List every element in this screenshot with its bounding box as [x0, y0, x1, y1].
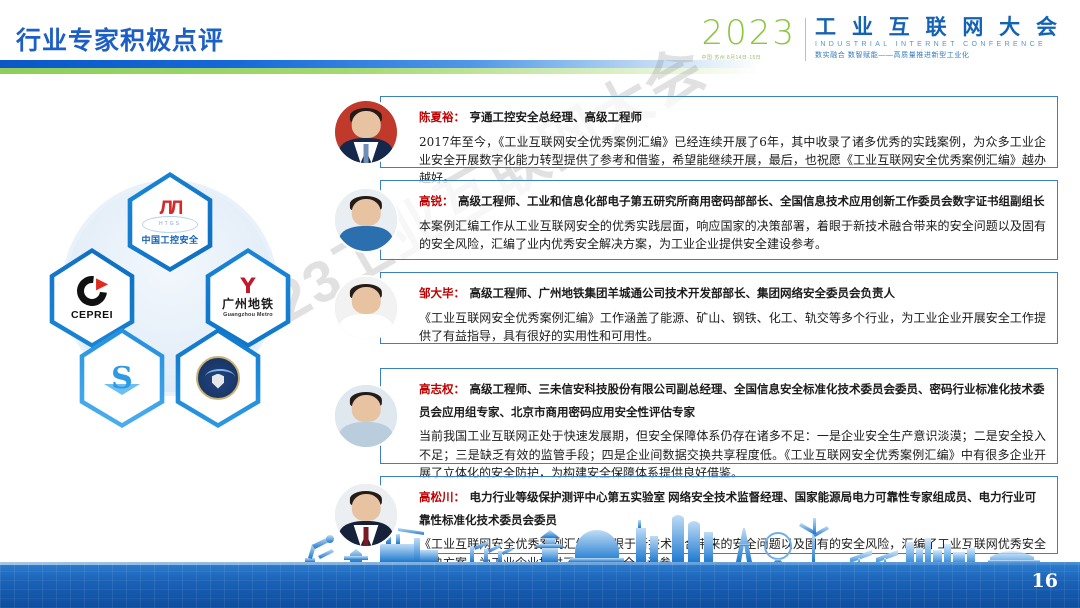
expert-comment-panel: 高锐： 高级工程师、工业和信息化部电子第五研究所商用密码部部长、全国信息技术应用… [380, 180, 1058, 260]
expert-title: 亨通工控安全总经理、高级工程师 [469, 112, 642, 124]
avatar-tie [364, 144, 369, 163]
slide-root: 行业专家积极点评 2023 中国·苏州 8月14日-15日 工 业 互 联 网 … [0, 0, 1080, 608]
avatar [333, 187, 399, 253]
expert-name: 陈夏裕： [419, 112, 465, 124]
ceprei-arrow-icon [96, 278, 108, 290]
avatar-body [339, 226, 392, 253]
htgs-label-cn: 中国工控安全 [141, 233, 198, 246]
conference-logo: 2023 中国·苏州 8月14日-15日 工 业 互 联 网 大 会 INDUS… [701, 16, 1062, 61]
expert-name: 邹大毕： [419, 288, 465, 300]
htgs-mark-icon: ЛЛ [160, 199, 181, 218]
ceprei-label-en: CEPREI [71, 309, 113, 321]
footer-grid-pattern [0, 562, 1080, 608]
avatar-body [339, 314, 392, 341]
htgs-ring-icon: HTGS [142, 216, 198, 233]
avatar-tie [364, 527, 369, 546]
expert-heading: 高志权： 高级工程师、三未信安科技股份有限公司副总经理、全国信息安全标准化技术委… [419, 378, 1046, 423]
header-rule-green [0, 68, 760, 74]
expert-comment-body: 《工业互联网安全优秀案例汇编》工作涵盖了能源、矿山、钢铁、化工、轨交等多个行业，… [419, 309, 1046, 345]
conference-name-block: 工 业 互 联 网 大 会 INDUSTRIAL INTERNET CONFER… [815, 16, 1062, 60]
avatar-head [352, 199, 381, 226]
metro-label-cn: 广州地铁 [222, 295, 274, 312]
s-mark-icon: S [102, 360, 142, 396]
badge-seal-icon [196, 356, 240, 400]
badge-shield-icon [212, 374, 224, 389]
expert-name: 高志权： [419, 384, 465, 396]
conference-name-en: INDUSTRIAL INTERNET CONFERENCE [815, 41, 1062, 48]
ceprei-mark-icon [71, 269, 113, 311]
metro-mark-icon: Y [240, 278, 255, 295]
metro-label-en: Guangzhou Metro [223, 312, 273, 318]
avatar [333, 482, 399, 548]
avatar-head [352, 111, 381, 138]
avatar [333, 383, 399, 449]
city-skyline-decoration [0, 514, 1080, 564]
logo-petal-badge-inner [177, 333, 259, 423]
expert-name: 高锐： [419, 196, 454, 208]
avatar-head [352, 494, 381, 521]
conference-name-cn: 工 业 互 联 网 大 会 [815, 16, 1062, 39]
avatar-head [352, 287, 381, 314]
expert-title: 高级工程师、三未信安科技股份有限公司副总经理、全国信息安全标准化技术委员会委员、… [419, 384, 1044, 419]
expert-name: 高松川： [419, 492, 465, 504]
footer-band [0, 562, 1080, 608]
conference-logo-divider [805, 18, 806, 61]
conference-tagline: 数实融合 数智赋能——高质量推进新型工业化 [815, 50, 1062, 60]
page-title: 行业专家积极点评 [16, 21, 224, 57]
page-number: 16 [1032, 570, 1058, 592]
header-divider-rule [0, 60, 760, 74]
expert-title: 高级工程师、工业和信息化部电子第五研究所商用密码部部长、全国信息技术应用创新工作… [458, 196, 1045, 208]
logo-petal-htgs-inner: ЛЛ HTGS 中国工控安全 [129, 177, 211, 267]
avatar [333, 275, 399, 341]
expert-heading: 陈夏裕： 亨通工控安全总经理、高级工程师 [419, 106, 1046, 129]
avatar [333, 99, 399, 165]
conference-year-block: 2023 中国·苏州 8月14日-15日 [701, 16, 796, 61]
expert-comment-panel: 陈夏裕： 亨通工控安全总经理、高级工程师 2017年至今，《工业互联网安全优秀案… [380, 96, 1058, 168]
expert-comment-body: 本案例汇编工作从工业互联网安全的优秀实践层面，响应国家的决策部署，着眼于新技术融… [419, 217, 1046, 253]
expert-comment-panel: 邹大毕： 高级工程师、广州地铁集团羊城通公司技术开发部部长、集团网络安全委员会负… [380, 272, 1058, 344]
expert-heading: 邹大毕： 高级工程师、广州地铁集团羊城通公司技术开发部部长、集团网络安全委员会负… [419, 282, 1046, 305]
conference-date-location: 中国·苏州 8月14日-15日 [701, 54, 796, 61]
expert-comment-panel: 高志权： 高级工程师、三未信安科技股份有限公司副总经理、全国信息安全标准化技术委… [380, 368, 1058, 464]
logo-petal-s-inner: S [81, 333, 163, 423]
partner-logo-cluster: ЛЛ HTGS 中国工控安全 Y 广州地铁 Guangzhou Metro CE… [32, 172, 308, 434]
s-letter: S [111, 361, 133, 396]
expert-comment-body: 当前我国工业互联网正处于快速发展期，但安全保障体系仍存在诸多不足：一是企业安全生… [419, 427, 1046, 482]
expert-heading: 高锐： 高级工程师、工业和信息化部电子第五研究所商用密码部部长、全国信息技术应用… [419, 190, 1046, 213]
avatar-body [339, 422, 392, 449]
header-rule-blue [0, 60, 760, 68]
conference-year: 2023 [701, 16, 796, 50]
expert-title: 高级工程师、广州地铁集团羊城通公司技术开发部部长、集团网络安全委员会负责人 [469, 288, 895, 300]
avatar-head [352, 395, 381, 422]
